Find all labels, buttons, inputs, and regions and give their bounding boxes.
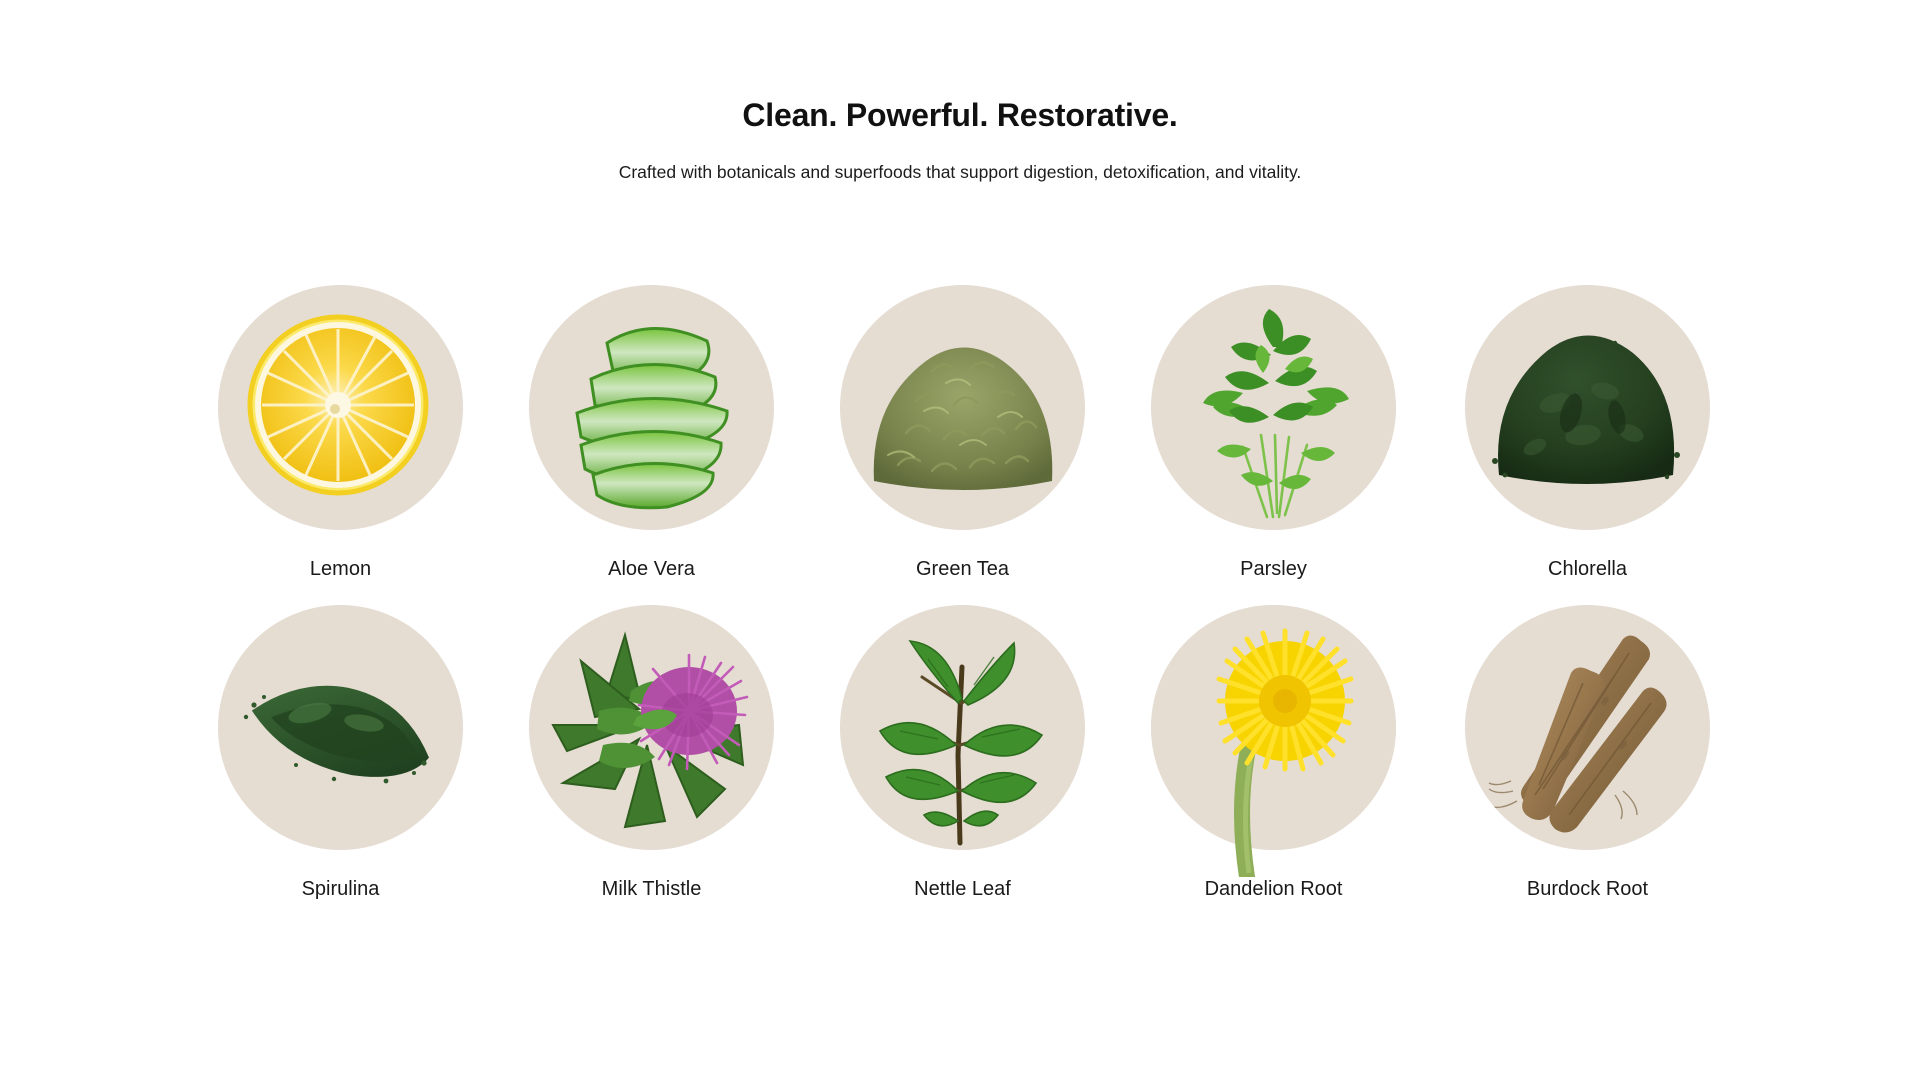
ingredient-circle [218,605,463,850]
dandelion-flower-image [1151,605,1396,877]
ingredient-circle [840,285,1085,530]
ingredient-circle [840,605,1085,850]
section-header: Clean. Powerful. Restorative. Crafted wi… [0,96,1920,185]
ingredient-card-green-tea[interactable]: Green Tea [840,285,1085,582]
lemon-slice-image [218,285,463,530]
ingredient-label: Dandelion Root [1151,877,1396,902]
spirulina-powder-image [218,605,463,850]
ingredient-circle [218,285,463,530]
aloe-vera-image [529,285,774,530]
ingredient-row-2: Spirulina [218,605,1710,925]
ingredient-circle [529,285,774,530]
ingredient-label: Green Tea [840,557,1085,582]
ingredient-circle [1465,285,1710,530]
ingredient-label: Nettle Leaf [840,877,1085,902]
ingredient-card-chlorella[interactable]: Chlorella [1465,285,1710,582]
burdock-root-image [1465,605,1710,850]
section-subtitle: Crafted with botanicals and superfoods t… [0,134,1920,185]
ingredient-label: Spirulina [218,877,463,902]
ingredient-card-nettle-leaf[interactable]: Nettle Leaf [840,605,1085,902]
nettle-leaf-image [840,605,1085,850]
ingredient-label: Parsley [1151,557,1396,582]
ingredient-card-aloe-vera[interactable]: Aloe Vera [529,285,774,582]
ingredient-label: Lemon [218,557,463,582]
ingredient-circle [529,605,774,850]
parsley-bunch-image [1151,285,1396,530]
milk-thistle-image [529,605,774,850]
ingredient-card-lemon[interactable]: Lemon [218,285,463,582]
ingredient-row-1: Lemon [218,285,1710,605]
ingredient-card-burdock-root[interactable]: Burdock Root [1465,605,1710,902]
ingredient-card-spirulina[interactable]: Spirulina [218,605,463,902]
ingredient-circle [1151,285,1396,530]
ingredient-label: Burdock Root [1465,877,1710,902]
ingredients-section: Clean. Powerful. Restorative. Crafted wi… [0,0,1920,1080]
green-tea-leaves-image [840,285,1085,530]
ingredient-circle [1151,605,1396,850]
ingredient-label: Aloe Vera [529,557,774,582]
ingredient-circle [1465,605,1710,850]
ingredient-card-milk-thistle[interactable]: Milk Thistle [529,605,774,902]
chlorella-powder-image [1465,285,1710,530]
page-title: Clean. Powerful. Restorative. [0,96,1920,134]
ingredient-card-dandelion-root[interactable]: Dandelion Root [1151,605,1396,902]
ingredient-label: Milk Thistle [529,877,774,902]
ingredient-label: Chlorella [1465,557,1710,582]
ingredient-grid: Lemon [218,285,1710,925]
ingredient-card-parsley[interactable]: Parsley [1151,285,1396,582]
